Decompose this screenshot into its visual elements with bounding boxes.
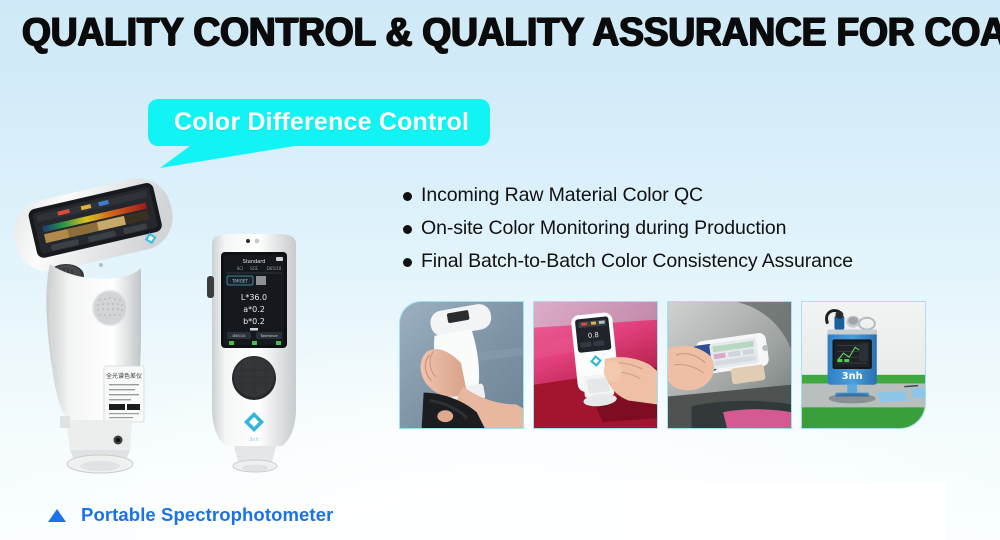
svg-text:SCI: SCI bbox=[237, 266, 244, 271]
svg-text:0.8: 0.8 bbox=[587, 331, 599, 340]
svg-text:b*0.2: b*0.2 bbox=[243, 317, 265, 326]
svg-text:3nh: 3nh bbox=[249, 437, 259, 443]
callout-label: Color Difference Control bbox=[174, 108, 469, 137]
bullet-label: On-site Color Monitoring during Producti… bbox=[421, 216, 786, 241]
page-title: QUALITY CONTROL & QUALITY ASSURANCE FOR … bbox=[22, 9, 859, 59]
thumb-gun-on-gray-panel[interactable] bbox=[399, 301, 524, 429]
thumb-device-on-pink-hood[interactable]: 0.8 bbox=[533, 301, 658, 429]
bullet-dot-icon bbox=[403, 192, 412, 201]
caption-portable-spectrophotometer: Portable Spectrophotometer bbox=[48, 504, 333, 526]
slide-canvas: QUALITY CONTROL & QUALITY ASSURANCE FOR … bbox=[0, 0, 1000, 540]
svg-text:D65/10: D65/10 bbox=[232, 334, 246, 338]
callout-tail-icon bbox=[148, 143, 498, 173]
list-item: Incoming Raw Material Color QC bbox=[403, 183, 923, 216]
bullet-label: Incoming Raw Material Color QC bbox=[421, 183, 703, 208]
svg-text:Standard: Standard bbox=[243, 259, 266, 265]
svg-text:全光谱色差仪: 全光谱色差仪 bbox=[106, 372, 142, 380]
white-placeholder-block bbox=[626, 482, 946, 540]
svg-text:3nh: 3nh bbox=[842, 371, 863, 382]
bullet-dot-icon bbox=[403, 258, 412, 267]
small-portable-spectrophotometer-image: Standard SCI SCE D65/10 TARGET L*36.0 a*… bbox=[198, 232, 310, 482]
svg-text:D65/10: D65/10 bbox=[267, 266, 282, 271]
svg-text:SCE: SCE bbox=[250, 266, 258, 271]
thumb-blue-device-in-hand[interactable] bbox=[667, 301, 792, 429]
svg-text:Tolerance: Tolerance bbox=[259, 334, 278, 338]
application-photo-strip: 0.8 bbox=[399, 301, 926, 429]
large-handheld-spectrophotometer-image: 全光谱色差仪 bbox=[8, 168, 193, 483]
color-difference-callout: Color Difference Control bbox=[148, 99, 498, 171]
thumb-benchtop-3nh-instrument[interactable]: 3nh bbox=[801, 301, 926, 429]
bullet-dot-icon bbox=[403, 225, 412, 234]
bullet-label: Final Batch-to-Batch Color Consistency A… bbox=[421, 249, 853, 274]
list-item: On-site Color Monitoring during Producti… bbox=[403, 216, 923, 249]
feature-bullet-list: Incoming Raw Material Color QC On-site C… bbox=[403, 183, 923, 282]
svg-text:a*0.2: a*0.2 bbox=[243, 305, 265, 314]
svg-text:TARGET: TARGET bbox=[231, 279, 248, 284]
list-item: Final Batch-to-Batch Color Consistency A… bbox=[403, 249, 923, 282]
svg-text:L*36.0: L*36.0 bbox=[241, 293, 267, 302]
caption-label: Portable Spectrophotometer bbox=[81, 504, 333, 526]
callout-bubble: Color Difference Control bbox=[148, 99, 490, 146]
triangle-up-icon bbox=[48, 509, 66, 522]
